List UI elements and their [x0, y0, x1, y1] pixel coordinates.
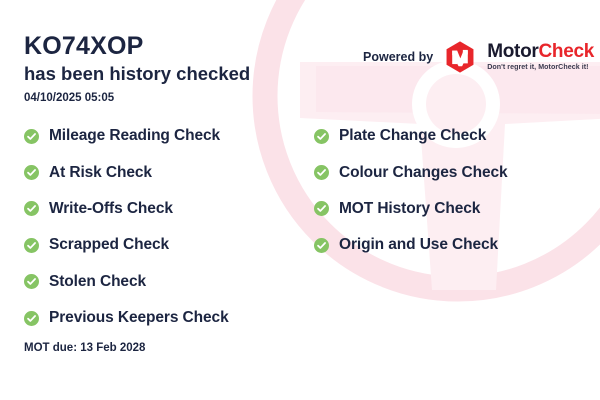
motorcheck-wordmark: MotorCheck Don't regret it, MotorCheck i… [487, 42, 594, 71]
check-label: Previous Keepers Check [49, 309, 229, 327]
check-label: Mileage Reading Check [49, 127, 220, 145]
list-item: Previous Keepers Check [24, 300, 314, 336]
check-label: Scrapped Check [49, 236, 169, 254]
wordmark-check: Check [538, 41, 594, 62]
vehicle-history-check-card: KO74XOP has been history checked 04/10/2… [0, 0, 600, 400]
list-item: Origin and Use Check [314, 227, 580, 263]
green-check-circle-icon [24, 311, 39, 326]
motorcheck-hexagon-m-icon [443, 40, 477, 74]
card-header: KO74XOP has been history checked 04/10/2… [24, 32, 250, 104]
list-item: Plate Change Check [314, 118, 580, 154]
check-label: MOT History Check [339, 200, 480, 218]
powered-by-label: Powered by [363, 50, 433, 64]
wordmark-text: MotorCheck [487, 42, 594, 61]
list-item: Mileage Reading Check [24, 118, 314, 154]
green-check-circle-icon [314, 201, 329, 216]
list-item: At Risk Check [24, 154, 314, 190]
green-check-circle-icon [24, 201, 39, 216]
brand-tagline: Don't regret it, MotorCheck it! [487, 64, 594, 71]
green-check-circle-icon [24, 274, 39, 289]
green-check-circle-icon [314, 238, 329, 253]
green-check-circle-icon [314, 129, 329, 144]
green-check-circle-icon [24, 238, 39, 253]
check-label: Plate Change Check [339, 127, 486, 145]
check-label: At Risk Check [49, 164, 152, 182]
green-check-circle-icon [314, 165, 329, 180]
check-label: Colour Changes Check [339, 164, 508, 182]
list-item: MOT History Check [314, 191, 580, 227]
list-item: Scrapped Check [24, 227, 314, 263]
check-label: Origin and Use Check [339, 236, 498, 254]
check-timestamp: 04/10/2025 05:05 [24, 92, 250, 104]
green-check-circle-icon [24, 129, 39, 144]
checks-grid: Mileage Reading Check At Risk Check Writ… [24, 118, 580, 336]
wordmark-motor: Motor [487, 41, 538, 62]
list-item: Colour Changes Check [314, 154, 580, 190]
mot-due-text: MOT due: 13 Feb 2028 [24, 342, 145, 354]
checks-right-column: Plate Change Check Colour Changes Check … [314, 118, 580, 336]
green-check-circle-icon [24, 165, 39, 180]
check-label: Write-Offs Check [49, 200, 173, 218]
checks-left-column: Mileage Reading Check At Risk Check Writ… [24, 118, 314, 336]
list-item: Write-Offs Check [24, 191, 314, 227]
registration-plate: KO74XOP [24, 32, 250, 62]
list-item: Stolen Check [24, 264, 314, 300]
powered-by-brand: Powered by MotorCheck Don't regret it, M… [363, 40, 594, 74]
header-subtitle: has been history checked [24, 63, 250, 85]
check-label: Stolen Check [49, 273, 146, 291]
